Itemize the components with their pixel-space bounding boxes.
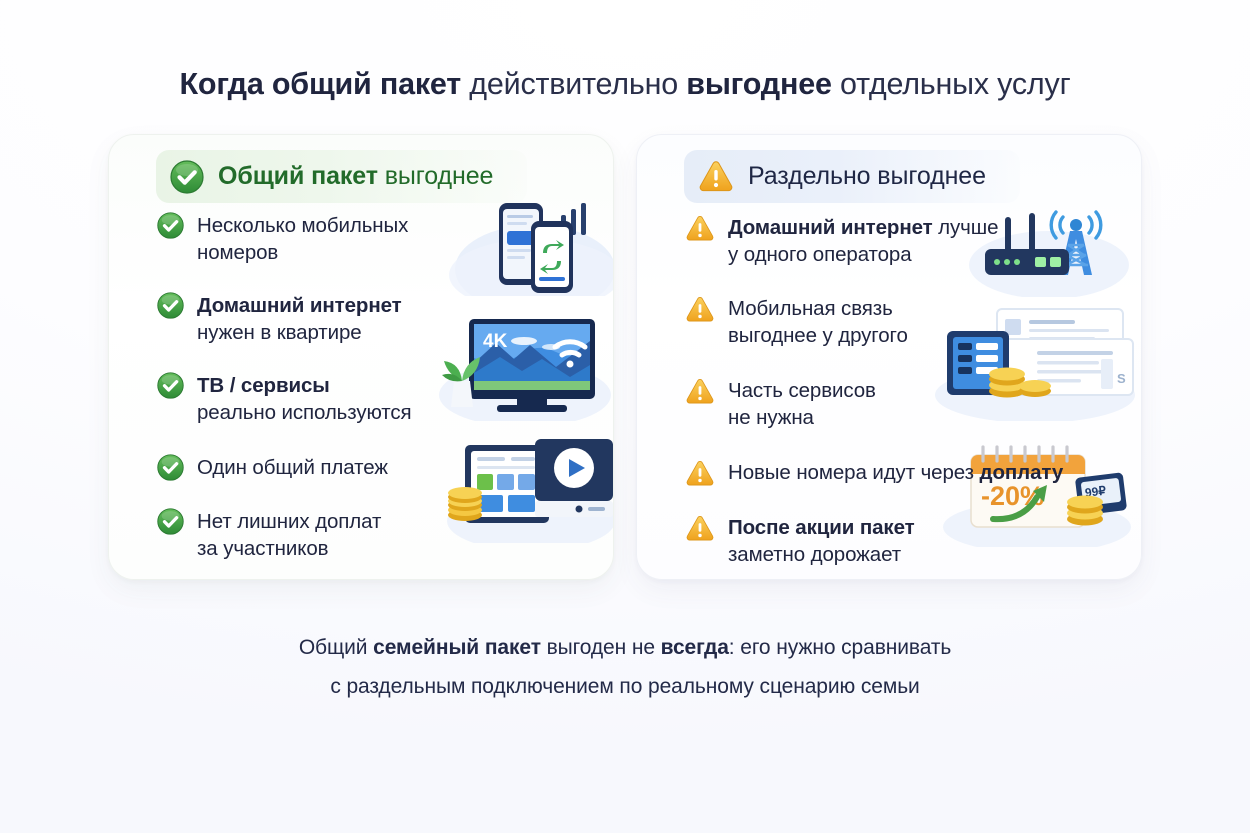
footer-bold-2: всегда (661, 636, 729, 659)
list-item-plain: реально используются (197, 401, 412, 424)
list-item-text: ТВ / сервисы реально используются (197, 371, 412, 426)
card-header-package-better: Общий пакет выгоднее (156, 150, 527, 203)
warning-triangle-icon (685, 460, 715, 487)
list-item-text: Нет лишних доплат за участников (197, 507, 381, 562)
list-item-text: Домашний интернет лучше у одного операто… (728, 213, 998, 268)
footer-line-2: с раздельным подключением по реальному с… (0, 667, 1250, 706)
list-item-plain: заметно дорожает (728, 543, 901, 566)
list-item: Мобильная связь выгоднее у другого (685, 294, 1125, 349)
drawbacks-list: Домашний интернет лучше у одного операто… (685, 211, 1125, 568)
footer-note: Общий семейный пакет выгоден не всегда: … (0, 628, 1250, 706)
list-item-text: Новые номера идут через доплату (728, 458, 1063, 486)
warning-triangle-icon (698, 160, 734, 193)
check-circle-icon (157, 292, 184, 319)
comparison-cards: 4K (108, 134, 1142, 580)
list-item: Нет лишних доплат за участников (157, 507, 597, 562)
card-header-separate-better: Раздельно выгоднее (684, 150, 1020, 203)
warning-triangle-icon (685, 215, 715, 242)
check-circle-icon (157, 508, 184, 535)
list-item-plain: Новые номера идут через (728, 461, 980, 484)
list-item-text: Несколько мобильных номеров (197, 211, 408, 266)
check-circle-icon (157, 212, 184, 239)
list-item-bold: Домашний интернет (728, 216, 933, 239)
footer-text-2: выгоден не (541, 636, 661, 659)
list-item-text: Поспе акции пакет заметно дорожает (728, 513, 915, 568)
list-item-text: Домашний интернет нужен в квартире (197, 291, 402, 346)
card-separate-better: S (636, 134, 1142, 580)
list-item-plain: нужен в квартире (197, 321, 362, 344)
list-item-plain: Один общий платеж (197, 456, 388, 479)
list-item-bold: доплату (980, 461, 1064, 484)
title-part-3: выгоднее (686, 67, 831, 101)
warning-triangle-icon (685, 296, 715, 323)
list-item-plain: Мобильная связь выгоднее у другого (728, 297, 908, 347)
list-item-bold: ТВ / сервисы (197, 374, 330, 397)
card-header-text: Раздельно выгоднее (748, 162, 986, 191)
page-title: Когда общий пакет действительно выгоднее… (0, 64, 1250, 104)
title-part-1: Когда общий пакет (179, 67, 461, 101)
footer-text-1: Общий (299, 636, 373, 659)
footer-bold-1: семейный пакет (373, 636, 541, 659)
list-item: Домашний интернет лучше у одного операто… (685, 213, 1125, 268)
list-item: ТВ / сервисы реально используются (157, 371, 597, 426)
title-part-4: отдельных услуг (832, 67, 1071, 101)
card-header-regular: Раздельно выгоднее (748, 162, 986, 190)
list-item: Один общий платеж (157, 453, 597, 481)
list-item-text: Один общий платеж (197, 453, 388, 481)
list-item: Часть сервисов не нужна (685, 376, 1125, 431)
list-item: Домашний интернет нужен в квартире (157, 291, 597, 346)
card-header-regular: выгоднее (378, 162, 493, 190)
card-package-better: 4K (108, 134, 614, 580)
title-part-2: действительно (461, 67, 686, 101)
list-item: Несколько мобильных номеров (157, 211, 597, 266)
list-item-text: Мобильная связь выгоднее у другого (728, 294, 908, 349)
list-item-plain: Несколько мобильных номеров (197, 214, 408, 264)
check-circle-icon (170, 160, 204, 194)
list-item-bold: Поспе акции пакет (728, 516, 915, 539)
warning-triangle-icon (685, 515, 715, 542)
warning-triangle-icon (685, 378, 715, 405)
card-header-text: Общий пакет выгоднее (218, 162, 493, 191)
footer-line-1: Общий семейный пакет выгоден не всегда: … (0, 628, 1250, 667)
benefits-list: Несколько мобильных номеров Домашний инт… (157, 211, 597, 562)
list-item-bold: Домашний интернет (197, 294, 402, 317)
card-header-bold: Общий пакет (218, 162, 378, 190)
check-circle-icon (157, 454, 184, 481)
list-item-plain: Часть сервисов не нужна (728, 379, 876, 429)
list-item: Новые номера идут через доплату (685, 458, 1125, 487)
list-item: Поспе акции пакет заметно дорожает (685, 513, 1125, 568)
list-item-text: Часть сервисов не нужна (728, 376, 876, 431)
check-circle-icon (157, 372, 184, 399)
footer-text-3: : его нужно сравнивать (729, 636, 951, 659)
list-item-plain: Нет лишних доплат за участников (197, 510, 381, 560)
infographic-page: Когда общий пакет действительно выгоднее… (0, 0, 1250, 833)
